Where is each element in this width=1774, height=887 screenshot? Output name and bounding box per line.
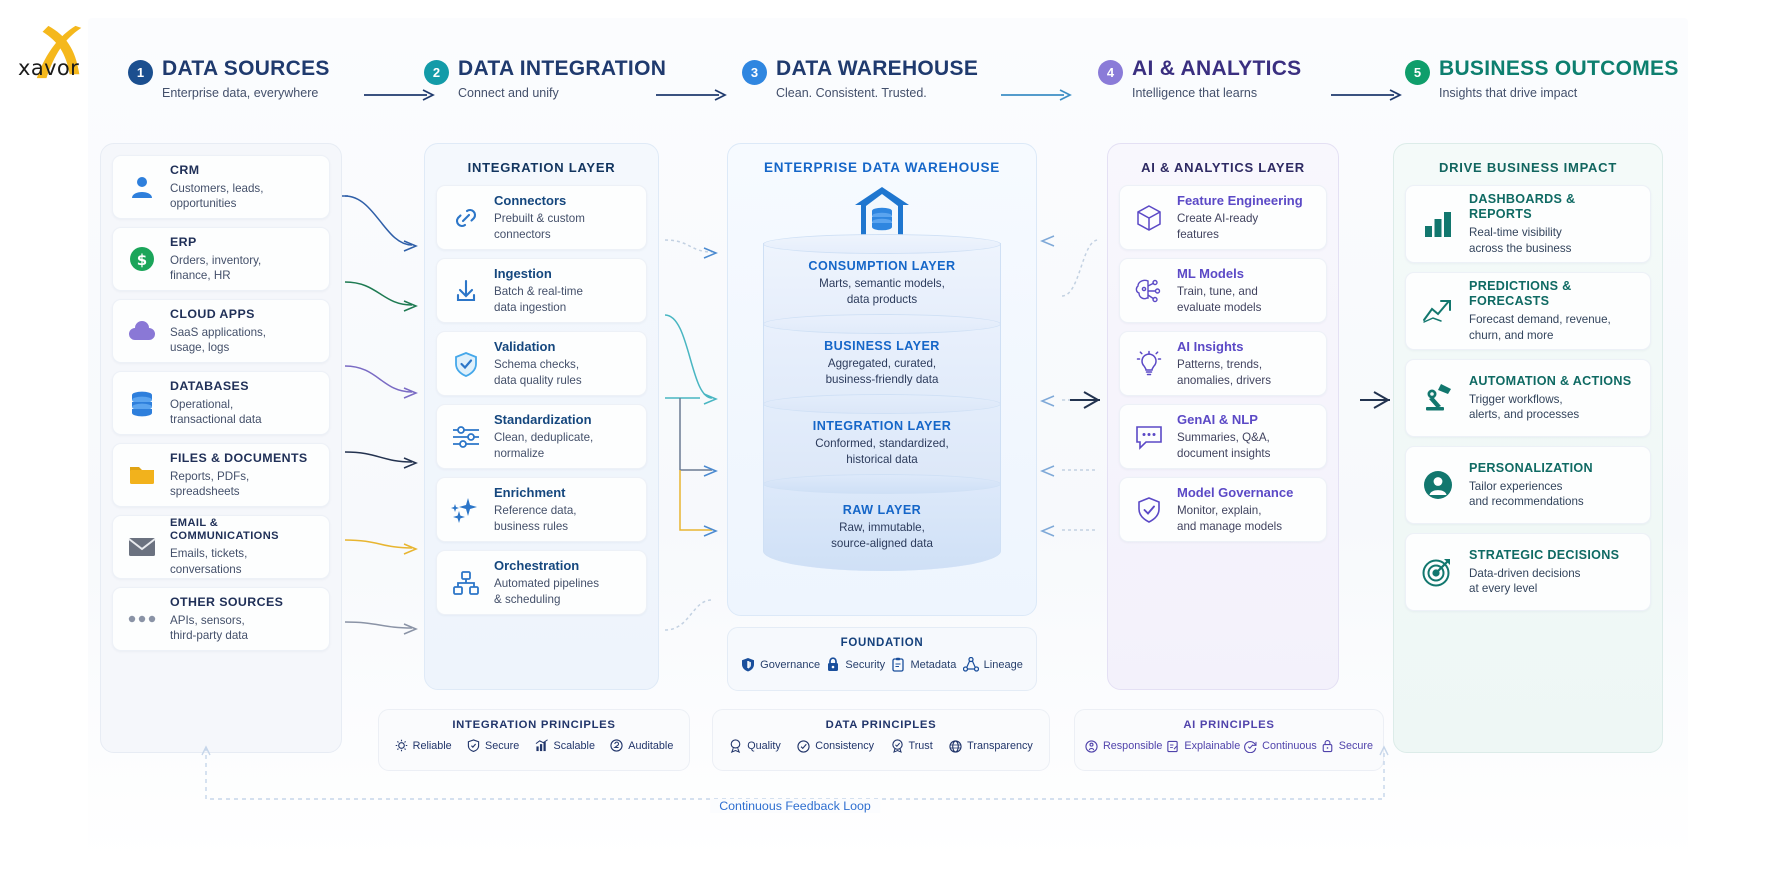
user-circle-icon — [1418, 465, 1458, 505]
warehouse-layer-integration[interactable]: INTEGRATION LAYER Conformed, standardize… — [763, 403, 1001, 483]
outcome-title: AUTOMATION & ACTIONS — [1469, 374, 1631, 389]
stage-badge-5: 5 — [1405, 60, 1430, 85]
stage-header-4: 4 AI & ANALYTICS Intelligence that learn… — [1098, 58, 1302, 100]
sparkles-icon — [449, 493, 483, 527]
source-desc: Customers, leads,opportunities — [170, 181, 263, 212]
stage-subtitle-4: Intelligence that learns — [1132, 86, 1302, 100]
stage-header-5: 5 BUSINESS OUTCOMES Insights that drive … — [1405, 58, 1679, 100]
ellipsis-icon — [125, 602, 159, 636]
stage-title-1: DATA SOURCES — [162, 58, 330, 80]
ai-card-ai-insights[interactable]: AI Insights Patterns, trends,anomalies, … — [1119, 331, 1327, 396]
layer-desc: Aggregated, curated,business-friendly da… — [826, 356, 939, 387]
foundation-label: Lineage — [984, 659, 1023, 671]
ai-title: ML Models — [1177, 266, 1261, 282]
source-desc: Operational,transactional data — [170, 397, 262, 428]
download-tray-icon — [449, 274, 483, 308]
sliders-icon — [449, 420, 483, 454]
source-title: FILES & DOCUMENTS — [170, 451, 308, 466]
database-icon — [125, 386, 159, 420]
integration-card-orchestration[interactable]: Orchestration Automated pipelines& sched… — [436, 550, 647, 615]
principles-title: DATA PRINCIPLES — [713, 710, 1049, 731]
source-card-cloud-apps[interactable]: CLOUD APPS SaaS applications,usage, logs — [112, 299, 330, 363]
integration-title: Validation — [494, 339, 582, 355]
ai-card-genai-nlp[interactable]: GenAI & NLP Summaries, Q&A,document insi… — [1119, 404, 1327, 469]
outcome-title: DASHBOARDS & REPORTS — [1469, 192, 1638, 222]
feedback-loop-label: Continuous Feedback Loop — [710, 799, 880, 813]
stage-header-3: 3 DATA WAREHOUSE Clean. Consistent. Trus… — [742, 58, 978, 100]
integration-desc: Batch & real-timedata ingestion — [494, 284, 583, 315]
shield-check-icon — [1132, 493, 1166, 527]
stage-title-3: DATA WAREHOUSE — [776, 58, 978, 80]
source-title: OTHER SOURCES — [170, 595, 283, 610]
integration-desc: Reference data,business rules — [494, 503, 577, 534]
source-desc: SaaS applications,usage, logs — [170, 325, 266, 356]
shield-check-icon — [449, 347, 483, 381]
principles-title: INTEGRATION PRINCIPLES — [379, 710, 689, 731]
foundation-item-security[interactable]: Security — [826, 657, 885, 672]
stage-header-1: 1 DATA SOURCES Enterprise data, everywhe… — [128, 58, 330, 100]
flow-arrow-2 — [655, 88, 729, 102]
source-card-email-communications[interactable]: EMAIL & COMMUNICATIONS Emails, tickets,c… — [112, 515, 330, 579]
stage-subtitle-2: Connect and unify — [458, 86, 666, 100]
outcome-card-personalization[interactable]: PERSONALIZATION Tailor experiencesand re… — [1405, 446, 1651, 524]
source-card-files-documents[interactable]: FILES & DOCUMENTS Reports, PDFs,spreadsh… — [112, 443, 330, 507]
integration-title: Orchestration — [494, 558, 599, 574]
outcomes-title: DRIVE BUSINESS IMPACT — [1394, 144, 1662, 177]
hierarchy-icon — [449, 566, 483, 600]
source-desc: Reports, PDFs,spreadsheets — [170, 469, 308, 500]
outcome-desc: Trigger workflows,alerts, and processes — [1469, 392, 1631, 423]
person-icon — [125, 170, 159, 204]
foundation-item-lineage[interactable]: Lineage — [963, 657, 1023, 672]
ai-card-ml-models[interactable]: ML Models Train, tune, andevaluate model… — [1119, 258, 1327, 323]
layer-desc: Raw, immutable,source-aligned data — [831, 520, 933, 551]
layer-title: INTEGRATION LAYER — [813, 419, 952, 433]
integration-desc: Clean, deduplicate,normalize — [494, 430, 593, 461]
foundation-label: Governance — [760, 659, 820, 671]
ai-desc: Train, tune, andevaluate models — [1177, 284, 1261, 315]
warehouse-foundation: FOUNDATION Governance Security Metadata … — [727, 627, 1037, 691]
source-title: CRM — [170, 163, 263, 178]
layer-title: RAW LAYER — [843, 503, 921, 517]
source-card-crm[interactable]: CRM Customers, leads,opportunities — [112, 155, 330, 219]
stage-badge-4: 4 — [1098, 60, 1123, 85]
outcome-title: PREDICTIONS & FORECASTS — [1469, 279, 1638, 309]
brand-name: xavor — [18, 56, 79, 80]
foundation-item-metadata[interactable]: Metadata — [891, 657, 956, 672]
outcome-desc: Forecast demand, revenue,churn, and more — [1469, 312, 1638, 343]
column-ai-analytics: AI & ANALYTICS LAYER Feature Engineering… — [1107, 143, 1339, 690]
cloud-icon — [125, 314, 159, 348]
stage-badge-1: 1 — [128, 60, 153, 85]
ai-desc: Summaries, Q&A,document insights — [1177, 430, 1270, 461]
ai-title: AI Insights — [1177, 339, 1271, 355]
dollar-circle-icon: $ — [125, 242, 159, 276]
ai-card-feature-engineering[interactable]: Feature Engineering Create AI-readyfeatu… — [1119, 185, 1327, 250]
ai-layer-title: AI & ANALYTICS LAYER — [1108, 144, 1338, 177]
warehouse-layer-business[interactable]: BUSINESS LAYER Aggregated, curated,busin… — [763, 323, 1001, 403]
foundation-title: FOUNDATION — [728, 628, 1036, 649]
ai-desc: Monitor, explain,and manage models — [1177, 503, 1293, 534]
warehouse-layer-consumption[interactable]: CONSUMPTION LAYER Marts, semantic models… — [763, 243, 1001, 323]
integration-card-connectors[interactable]: Connectors Prebuilt & customconnectors — [436, 185, 647, 250]
warehouse-icon — [851, 183, 913, 241]
chat-bubble-icon — [1132, 420, 1166, 454]
flow-arrow-3 — [1000, 88, 1074, 102]
foundation-label: Security — [845, 659, 885, 671]
column-data-warehouse: ENTERPRISE DATA WAREHOUSE CONSUMPTION LA… — [727, 143, 1037, 616]
target-icon — [1418, 552, 1458, 592]
outcome-desc: Data-driven decisionsat every level — [1469, 566, 1619, 597]
column-business-outcomes: DRIVE BUSINESS IMPACT DASHBOARDS & REPOR… — [1393, 143, 1663, 753]
outcome-title: PERSONALIZATION — [1469, 461, 1593, 476]
ai-card-model-governance[interactable]: Model Governance Monitor, explain,and ma… — [1119, 477, 1327, 542]
warehouse-layer-raw[interactable]: RAW LAYER Raw, immutable,source-aligned … — [763, 483, 1001, 571]
stage-badge-2: 2 — [424, 60, 449, 85]
source-title: EMAIL & COMMUNICATIONS — [170, 517, 317, 544]
integration-desc: Prebuilt & customconnectors — [494, 211, 585, 242]
continuous-feedback-loop: Continuous Feedback Loop — [200, 745, 1390, 817]
stage-subtitle-3: Clean. Consistent. Trusted. — [776, 86, 978, 100]
source-title: DATABASES — [170, 379, 262, 394]
lock-icon — [826, 657, 840, 672]
bar-chart-icon — [1418, 204, 1458, 244]
warehouse-layer-stack: CONSUMPTION LAYER Marts, semantic models… — [763, 243, 1001, 571]
source-desc: APIs, sensors,third-party data — [170, 613, 283, 644]
warehouse-title: ENTERPRISE DATA WAREHOUSE — [728, 144, 1036, 177]
integration-layer-title: INTEGRATION LAYER — [425, 144, 658, 177]
integration-title: Enrichment — [494, 485, 577, 501]
outcome-title: STRATEGIC DECISIONS — [1469, 548, 1619, 563]
trend-up-icon — [1418, 291, 1458, 331]
source-title: CLOUD APPS — [170, 307, 266, 322]
stage-title-5: BUSINESS OUTCOMES — [1439, 58, 1679, 80]
integration-desc: Schema checks,data quality rules — [494, 357, 582, 388]
layer-title: BUSINESS LAYER — [824, 339, 940, 353]
ai-title: Model Governance — [1177, 485, 1293, 501]
integration-card-enrichment[interactable]: Enrichment Reference data,business rules — [436, 477, 647, 542]
folder-icon — [125, 458, 159, 492]
column-data-integration: INTEGRATION LAYER Connectors Prebuilt & … — [424, 143, 659, 690]
ai-title: GenAI & NLP — [1177, 412, 1270, 428]
envelope-icon — [125, 530, 159, 564]
outcome-card-dashboards-reports[interactable]: DASHBOARDS & REPORTS Real-time visibilit… — [1405, 185, 1651, 263]
cube-icon — [1132, 201, 1166, 235]
outcome-card-strategic-decisions[interactable]: STRATEGIC DECISIONS Data-driven decision… — [1405, 533, 1651, 611]
outcome-desc: Real-time visibilityacross the business — [1469, 225, 1638, 256]
source-card-erp[interactable]: $ ERP Orders, inventory,finance, HR — [112, 227, 330, 291]
stage-title-2: DATA INTEGRATION — [458, 58, 666, 80]
integration-title: Connectors — [494, 193, 585, 209]
integration-card-validation[interactable]: Validation Schema checks,data quality ru… — [436, 331, 647, 396]
stage-subtitle-5: Insights that drive impact — [1439, 86, 1679, 100]
source-desc: Emails, tickets,conversations — [170, 546, 317, 577]
link-icon — [449, 201, 483, 235]
shield-icon — [741, 657, 755, 672]
ai-desc: Patterns, trends,anomalies, drivers — [1177, 357, 1271, 388]
stage-title-4: AI & ANALYTICS — [1132, 58, 1302, 80]
outcome-desc: Tailor experiencesand recommendations — [1469, 479, 1593, 510]
integration-card-standardization[interactable]: Standardization Clean, deduplicate,norma… — [436, 404, 647, 469]
layer-desc: Conformed, standardized,historical data — [815, 436, 948, 467]
clipboard-icon — [891, 657, 905, 672]
principles-title: AI PRINCIPLES — [1075, 710, 1383, 731]
column-data-sources: CRM Customers, leads,opportunities $ ERP… — [100, 143, 342, 753]
foundation-label: Metadata — [910, 659, 956, 671]
brain-circuit-icon — [1132, 274, 1166, 308]
source-card-databases[interactable]: DATABASES Operational,transactional data — [112, 371, 330, 435]
ai-desc: Create AI-readyfeatures — [1177, 211, 1303, 242]
flow-arrow-4 — [1330, 88, 1404, 102]
integration-title: Standardization — [494, 412, 593, 428]
integration-desc: Automated pipelines& scheduling — [494, 576, 599, 607]
source-title: ERP — [170, 235, 261, 250]
integration-card-ingestion[interactable]: Ingestion Batch & real-timedata ingestio… — [436, 258, 647, 323]
source-card-other-sources[interactable]: OTHER SOURCES APIs, sensors,third-party … — [112, 587, 330, 651]
stage-subtitle-1: Enterprise data, everywhere — [162, 86, 330, 100]
lineage-icon — [963, 657, 979, 672]
lightbulb-icon — [1132, 347, 1166, 381]
stage-badge-3: 3 — [742, 60, 767, 85]
source-desc: Orders, inventory,finance, HR — [170, 253, 261, 284]
svg-text:$: $ — [137, 251, 147, 269]
diagram-page: xavor 1 DATA SOURCES Enterprise data, ev… — [0, 0, 1774, 887]
integration-title: Ingestion — [494, 266, 583, 282]
layer-title: CONSUMPTION LAYER — [808, 259, 955, 273]
layer-desc: Marts, semantic models,data products — [819, 276, 945, 307]
robot-arm-icon — [1418, 378, 1458, 418]
outcome-card-predictions-forecasts[interactable]: PREDICTIONS & FORECASTS Forecast demand,… — [1405, 272, 1651, 350]
foundation-item-governance[interactable]: Governance — [741, 657, 820, 672]
outcome-card-automation-actions[interactable]: AUTOMATION & ACTIONS Trigger workflows,a… — [1405, 359, 1651, 437]
ai-title: Feature Engineering — [1177, 193, 1303, 209]
stage-header-2: 2 DATA INTEGRATION Connect and unify — [424, 58, 666, 100]
